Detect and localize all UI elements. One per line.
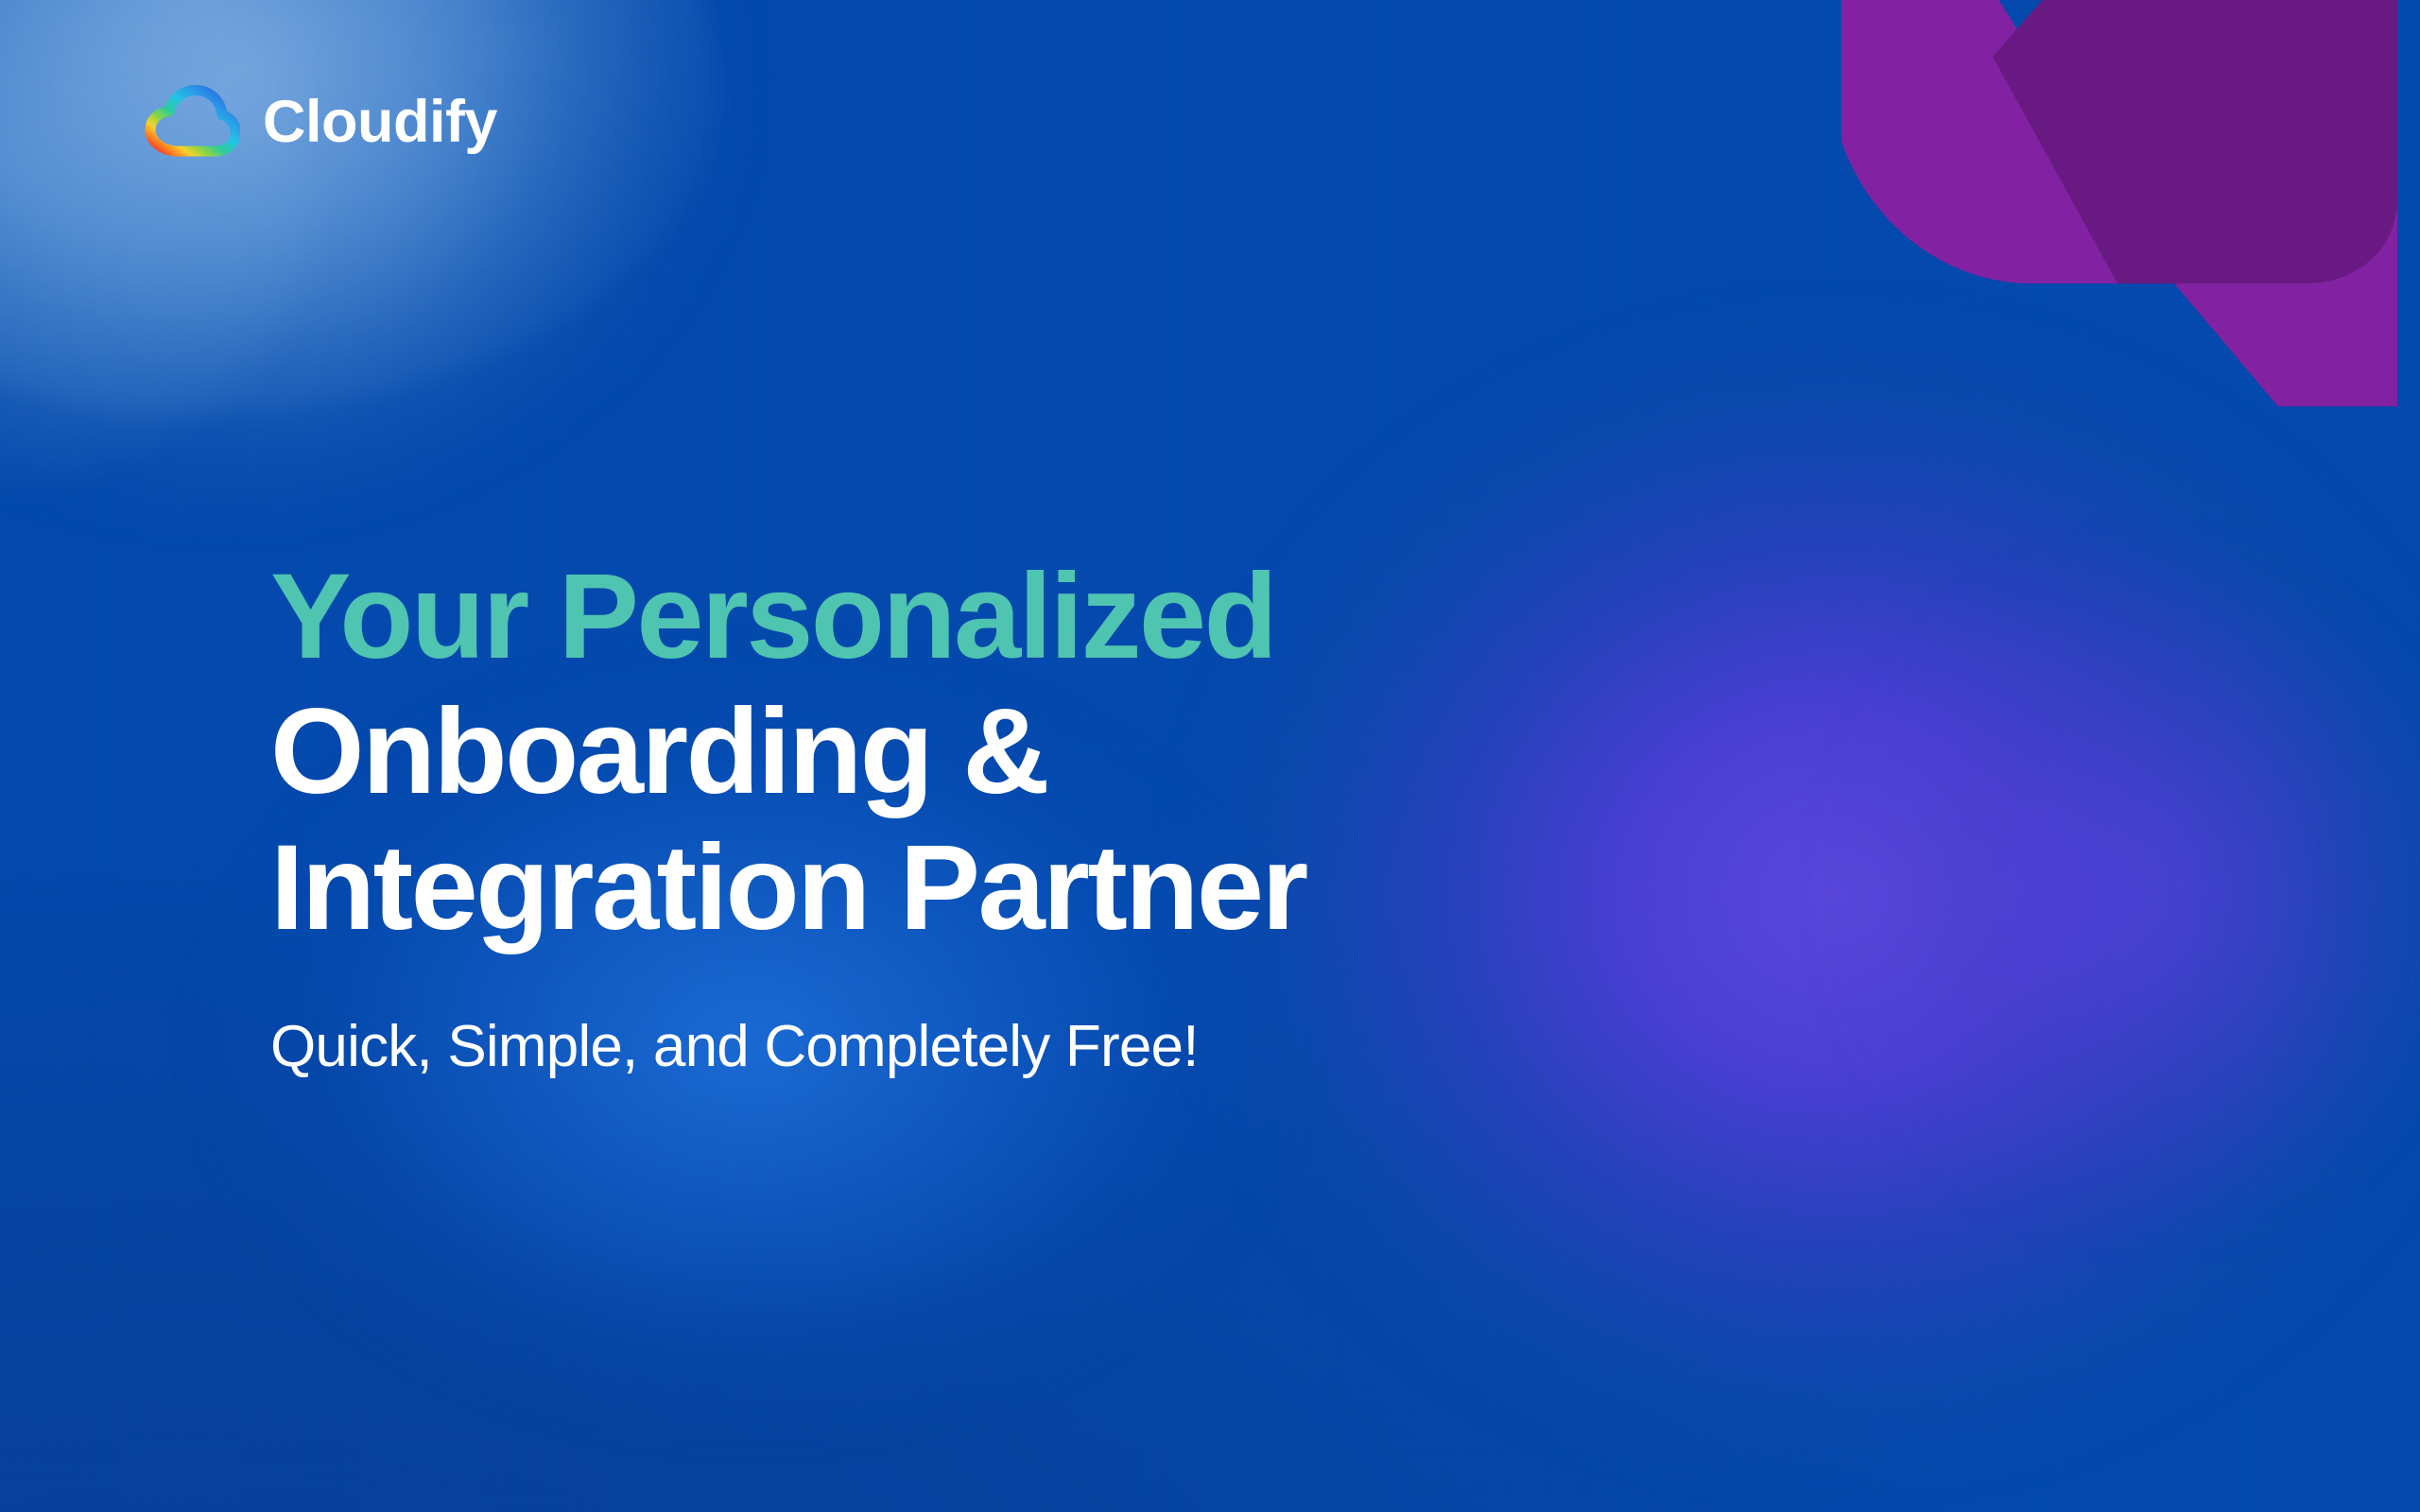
hero-headline-line-3: Integration Partner (270, 827, 2066, 949)
brand-wordmark: Cloudify (263, 93, 497, 152)
brand-logo[interactable]: Cloudify (142, 85, 497, 159)
cloud-icon (142, 85, 240, 159)
hero-banner: Cloudify Your Personalized Onboarding & … (0, 0, 2420, 1512)
hero-content: Your Personalized Onboarding & Integrati… (270, 556, 2066, 1080)
hero-headline-line-1: Your Personalized (270, 556, 2066, 678)
hero-headline-line-2: Onboarding & (270, 691, 2066, 813)
hero-subtitle: Quick, Simple, and Completely Free! (270, 1013, 2066, 1080)
